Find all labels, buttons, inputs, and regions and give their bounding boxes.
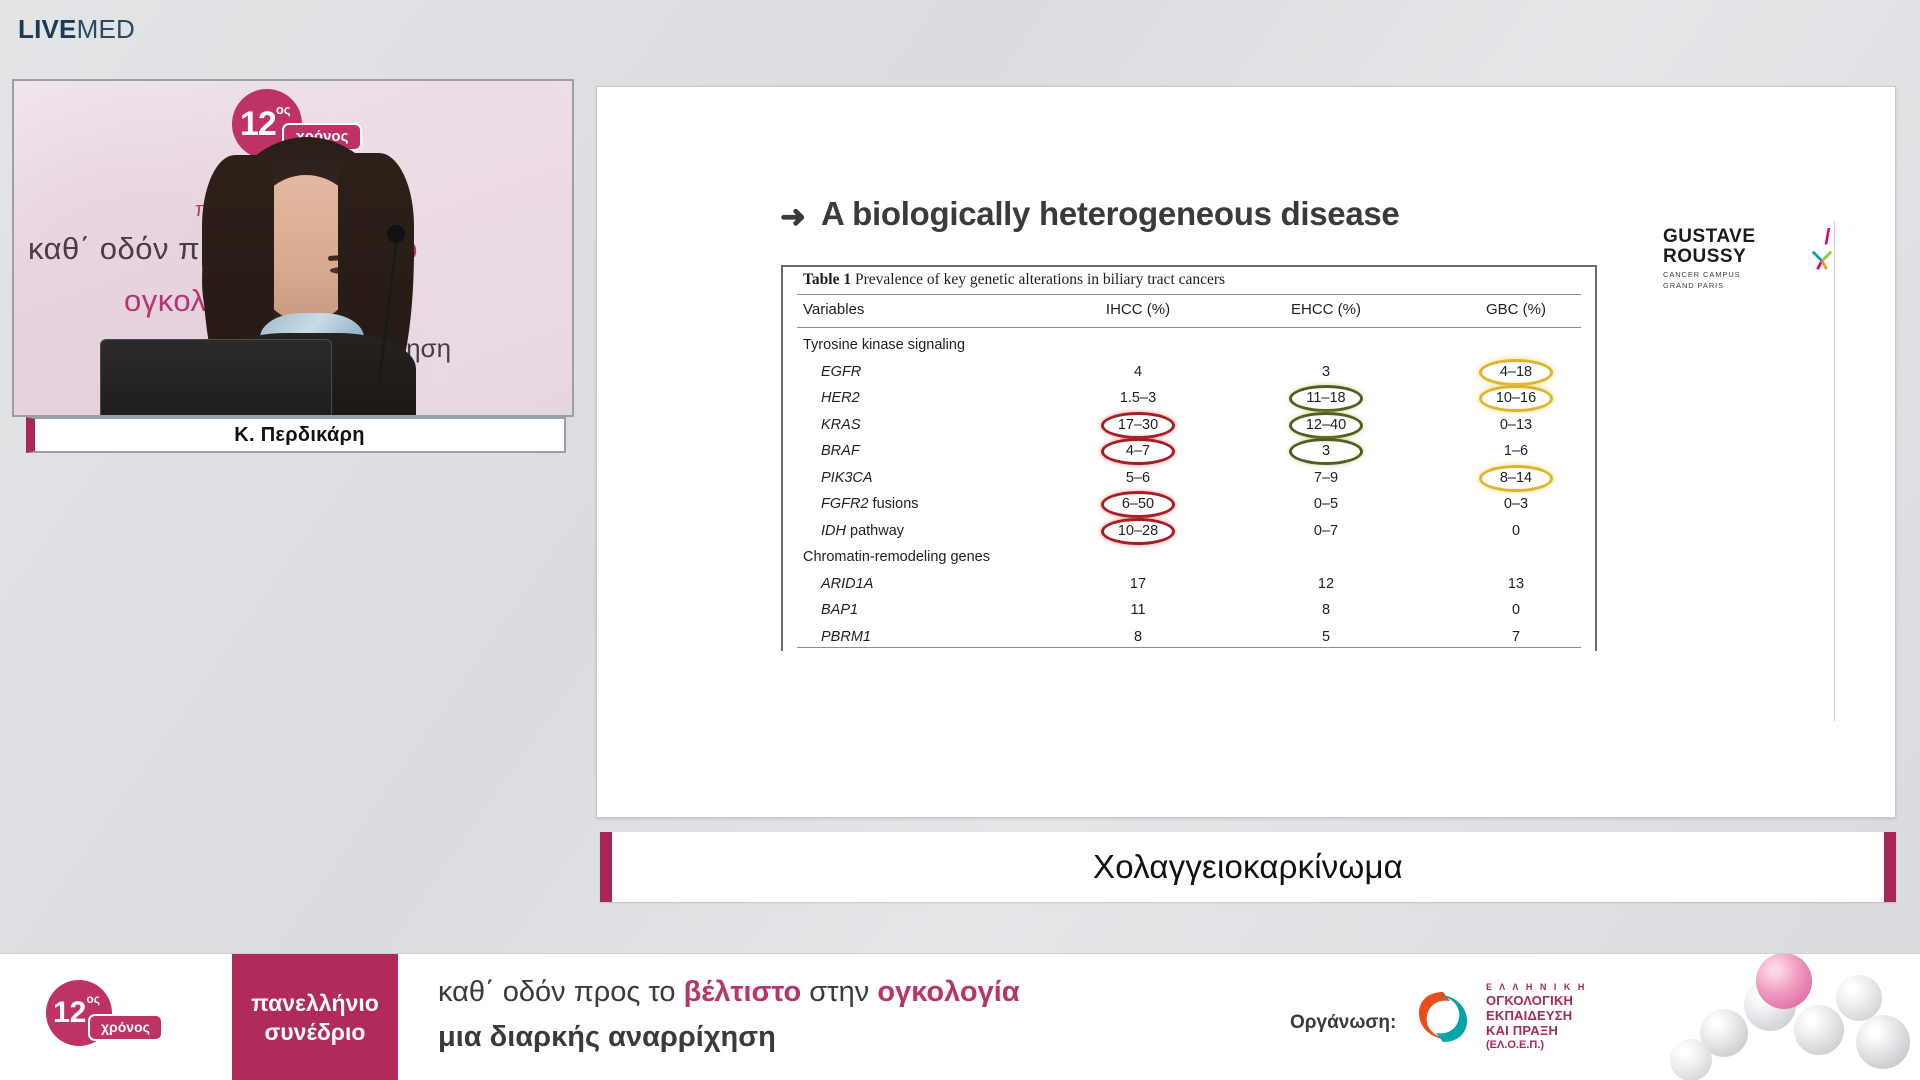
footer-slogan-hl-2: ογκολογία <box>877 976 1019 1008</box>
table-cell-ihcc: 11 <box>1043 602 1233 618</box>
table-caption-bold: Table 1 <box>803 271 851 288</box>
gustave-roussy-logo: GUSTAVE ROUSSY / CANCER CAMPUS GRAND PAR… <box>1663 227 1823 292</box>
table-cell-ehcc: 3 <box>1231 364 1421 380</box>
table-cell-ehcc: 11–18 <box>1231 390 1421 406</box>
balloon <box>1756 953 1812 1009</box>
table-cell-gbc: 4–18 <box>1421 364 1611 380</box>
table-cell-ihcc: 10–28 <box>1043 523 1233 539</box>
footer-banner: 12 ος χρόνος πανελλήνιο συνέδριο καθ΄ οδ… <box>0 953 1920 1080</box>
footer-organizer-label: Οργάνωση: <box>1290 1012 1396 1034</box>
eloep-text: Ε Λ Λ Η Ν Ι Κ Η ΟΓΚΟΛΟΓΙΚΗ ΕΚΠΑΙΔΕΥΣΗ ΚΑ… <box>1486 982 1587 1052</box>
genetic-alterations-table: Table 1 Prevalence of key genetic altera… <box>781 265 1597 651</box>
table-cell-ehcc: 0–7 <box>1231 523 1421 539</box>
table-cell-ihcc: 1.5–3 <box>1043 390 1233 406</box>
table-row-label: IDH pathway <box>803 523 904 539</box>
footer-slogan-a: καθ΄ οδόν προς το <box>438 976 684 1008</box>
balloon <box>1670 1039 1712 1080</box>
presentation-slide[interactable]: ➜ A biologically heterogeneous disease G… <box>596 86 1896 818</box>
eloep-swirl-icon <box>1410 984 1476 1050</box>
table-row-label: PBRM1 <box>803 629 871 645</box>
column-header-gbc: GBC (%) <box>1421 301 1611 318</box>
logo-line-2: ROUSSY / <box>1663 247 1823 267</box>
table-cell-ehcc: 12–40 <box>1231 417 1421 433</box>
table-row-label: FGFR2 fusions <box>803 496 919 512</box>
table-cell-ihcc: 5–6 <box>1043 470 1233 486</box>
table-row-label: PIK3CA <box>803 470 873 486</box>
table-header-row: Variables IHCC (%) EHCC (%) GBC (%) <box>781 301 1597 325</box>
livemed-logo: LIVEMED <box>18 16 135 42</box>
table-row-label: BRAF <box>803 443 860 459</box>
table-row-label: HER2 <box>803 390 860 406</box>
podium-laptop <box>100 339 332 417</box>
table-cell-gbc: 13 <box>1421 576 1611 592</box>
footer-congress-panel: πανελλήνιο συνέδριο <box>232 954 398 1080</box>
balloon <box>1856 1015 1910 1069</box>
footer-slogan-hl-1: βέλτιστο <box>684 976 802 1008</box>
topic-bar: Χολαγγειοκαρκίνωμα <box>600 832 1896 902</box>
column-header-ihcc: IHCC (%) <box>1043 301 1233 318</box>
table-cell-ehcc: 8 <box>1231 602 1421 618</box>
table-row-label: ARID1A <box>803 576 873 592</box>
table-cell-ihcc: 4 <box>1043 364 1233 380</box>
balloon <box>1836 975 1882 1021</box>
eloep-line-2: ΕΚΠΑΙΔΕΥΣΗ <box>1486 1008 1587 1023</box>
logo-line-1: GUSTAVE <box>1663 227 1823 247</box>
footer-slogan-b: στην <box>801 976 877 1008</box>
speaker-video[interactable]: 12 ος χρόνος πανελλήνιο συνέδριο καθ΄ οδ… <box>12 79 574 417</box>
table-group-label: Tyrosine kinase signaling <box>803 337 965 353</box>
logo-x-icon <box>1811 249 1833 271</box>
footer-badge-number: 12 <box>53 998 86 1028</box>
table-caption-rest: Prevalence of key genetic alterations in… <box>855 271 1225 288</box>
footer-slogan-line-1: καθ΄ οδόν προς το βέλτιστο στην ογκολογί… <box>438 976 1020 1009</box>
table-rule-top <box>797 294 1581 295</box>
table-cell-gbc: 8–14 <box>1421 470 1611 486</box>
eloep-logo: Ε Λ Λ Η Ν Ι Κ Η ΟΓΚΟΛΟΓΙΚΗ ΕΚΠΑΙΔΕΥΣΗ ΚΑ… <box>1410 982 1587 1052</box>
footer-slogan: καθ΄ οδόν προς το βέλτιστο στην ογκολογί… <box>438 976 1020 1054</box>
balloons-graphic <box>1660 953 1920 1080</box>
table-group-label: Chromatin-remodeling genes <box>803 549 990 565</box>
footer-panel-line-2: συνέδριο <box>265 1018 366 1047</box>
speaker-name: Κ. Περδικάρη <box>234 424 365 447</box>
eloep-line-4: (ΕΛ.Ο.Ε.Π.) <box>1486 1039 1587 1052</box>
footer-panel-line-1: πανελλήνιο <box>251 989 379 1018</box>
table-cell-ehcc: 3 <box>1231 443 1421 459</box>
footer-anniversary-badge: 12 ος χρόνος <box>46 980 186 1050</box>
table-cell-ihcc: 17 <box>1043 576 1233 592</box>
table-cell-ehcc: 0–5 <box>1231 496 1421 512</box>
eloep-line-3: ΚΑΙ ΠΡΑΞΗ <box>1486 1023 1587 1038</box>
table-cell-gbc: 0 <box>1421 602 1611 618</box>
footer-chronos-label: χρόνος <box>88 1014 163 1041</box>
table-cell-gbc: 0–13 <box>1421 417 1611 433</box>
table-row-label: EGFR <box>803 364 861 380</box>
badge-number: 12 <box>240 107 276 141</box>
table-cell-ehcc: 5 <box>1231 629 1421 645</box>
table-cell-gbc: 0 <box>1421 523 1611 539</box>
table-cell-ihcc: 6–50 <box>1043 496 1233 512</box>
column-header-ehcc: EHCC (%) <box>1231 301 1421 318</box>
table-row-label: BAP1 <box>803 602 858 618</box>
table-rule-header <box>797 327 1581 328</box>
badge-superscript: ος <box>276 103 291 116</box>
table-cell-gbc: 1–6 <box>1421 443 1611 459</box>
table-row-label: KRAS <box>803 417 861 433</box>
slide-divider <box>1834 221 1835 721</box>
logo-subtitle-2: GRAND PARIS <box>1663 281 1823 292</box>
table-cell-gbc: 7 <box>1421 629 1611 645</box>
footer-slogan-line-2: μια διαρκής αναρρίχηση <box>438 1021 1020 1054</box>
table-cell-gbc: 0–3 <box>1421 496 1611 512</box>
logo-slash-icon: / <box>1824 225 1831 248</box>
table-cell-gbc: 10–16 <box>1421 390 1611 406</box>
table-cell-ehcc: 12 <box>1231 576 1421 592</box>
table-cell-ihcc: 4–7 <box>1043 443 1233 459</box>
table-cell-ehcc: 7–9 <box>1231 470 1421 486</box>
balloon <box>1794 1005 1844 1055</box>
brand-live: LIVE <box>18 14 77 44</box>
brand-med: MED <box>77 14 135 44</box>
app-root: LIVEMED 12 ος χρόνος πανελλήνιο συνέδριο… <box>0 0 1920 1080</box>
arrow-right-icon: ➜ <box>780 199 806 235</box>
table-rule-bottom <box>797 647 1581 648</box>
speaker-nameplate: Κ. Περδικάρη <box>26 417 566 453</box>
eloep-line-1: ΟΓΚΟΛΟΓΙΚΗ <box>1486 993 1587 1008</box>
eloep-line-0: Ε Λ Λ Η Ν Ι Κ Η <box>1486 982 1587 993</box>
table-cell-ihcc: 17–30 <box>1043 417 1233 433</box>
column-header-variables: Variables <box>803 301 864 318</box>
table-cell-ihcc: 8 <box>1043 629 1233 645</box>
footer-badge-superscript: ος <box>86 992 100 1006</box>
microphone-icon <box>387 225 405 243</box>
logo-subtitle-1: CANCER CAMPUS <box>1663 270 1823 281</box>
topic-title: Χολαγγειοκαρκίνωμα <box>1093 848 1403 886</box>
slide-title: A biologically heterogeneous disease <box>821 195 1399 233</box>
table-caption: Table 1 Prevalence of key genetic altera… <box>803 271 1225 289</box>
